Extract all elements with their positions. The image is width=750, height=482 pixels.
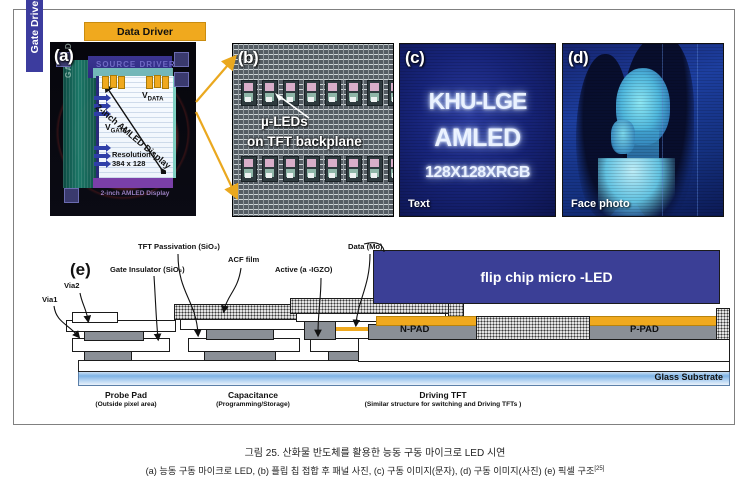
led-row-bottom <box>241 156 394 182</box>
led-cell <box>346 80 362 106</box>
caption-line-1: 그림 25. 산화물 반도체를 활용한 능동 구동 마이크로 LED 시연 <box>55 444 695 463</box>
led-cell <box>367 156 383 182</box>
legend-probe-pad: Probe Pad (Outside pixel area) <box>56 390 196 410</box>
microscope-texture <box>233 44 393 216</box>
panel-d-face-photo: Face photo <box>562 43 724 217</box>
led-cell <box>325 80 341 106</box>
panel-d-caption: Face photo <box>571 198 630 210</box>
vgate-arrow-5 <box>94 154 106 158</box>
panel-c-caption: Text <box>408 198 430 210</box>
panel-b-line1: µ-LEDs <box>261 114 308 129</box>
panel-b-micro-led-array: µ-LEDs on TFT backplane <box>232 43 394 217</box>
led-cell <box>262 156 278 182</box>
panel-a-to-b-arrows <box>194 50 254 210</box>
panel-c-text-image: KHU-LGE AMLED 128X128XRGB Text <box>399 43 556 217</box>
panel-a-amled-display: GATE DRIVER SOURCE DRIVER 2-inch AMLED D… <box>50 42 196 216</box>
led-cell <box>325 156 341 182</box>
panel-a-tag: (a) <box>54 46 73 66</box>
board-corner-tr2 <box>174 72 189 87</box>
legend-driving-tft: Driving TFT (Similar structure for switc… <box>308 390 578 410</box>
v-data-label: VDATA <box>142 90 163 103</box>
callout-leader-lines <box>28 238 748 378</box>
vgate-arrow-1 <box>94 96 106 100</box>
board-corner-bl <box>64 188 79 203</box>
vdata-arrow-3 <box>118 76 125 89</box>
led-cell <box>283 156 299 182</box>
led-cell <box>388 80 394 106</box>
panel-e-pixel-cross-section: (e) TFT Passivation (SiO₂) Gate Insulato… <box>28 238 748 434</box>
panel-c-line3: 128X128XRGB <box>400 164 555 182</box>
data-driver-badge: Data Driver <box>84 22 206 41</box>
panel-c-line2: AMLED <box>400 124 555 153</box>
vdata-arrow-1 <box>102 76 109 89</box>
vgate-arrow-6 <box>94 162 106 166</box>
caption-line-2: (a) 능동 구동 마이크로 LED, (b) 플립 칩 접합 후 패널 사진,… <box>55 463 695 480</box>
gate-driver-badge: Gate Driver <box>26 0 43 72</box>
led-cell <box>346 156 362 182</box>
board-corner-tr <box>174 52 189 67</box>
led-cell <box>304 156 320 182</box>
vdata-arrow-6 <box>162 76 169 89</box>
resolution-label: Resolution : 384 x 128 <box>112 150 155 169</box>
figure-caption: 그림 25. 산화물 반도체를 활용한 능동 구동 마이크로 LED 시연 (a… <box>55 444 695 480</box>
legend-capacitance: Capacitance (Programming/Storage) <box>178 390 328 410</box>
panel-c-tag: (c) <box>405 48 424 68</box>
vdata-arrow-2 <box>110 75 117 88</box>
vgate-arrow-4 <box>94 146 106 150</box>
figure-frame: GATE DRIVER SOURCE DRIVER 2-inch AMLED D… <box>13 9 735 425</box>
vdata-arrow-5 <box>154 75 161 88</box>
panel-c-line1: KHU-LGE <box>400 88 555 115</box>
panel-d-tag: (d) <box>568 48 588 68</box>
display-bottom-bezel <box>93 178 173 188</box>
v-gate-label: VGATE <box>105 122 127 135</box>
panel-b-line2: on TFT backplane <box>247 134 362 149</box>
figure-page: GATE DRIVER SOURCE DRIVER 2-inch AMLED D… <box>0 0 750 482</box>
led-cell <box>388 156 394 182</box>
panel-b-tag: (b) <box>238 48 258 68</box>
led-cell <box>367 80 383 106</box>
led-row-top <box>241 80 394 106</box>
vdata-arrow-4 <box>146 76 153 89</box>
panel-d-scanlines <box>563 44 723 216</box>
panel-a-board-caption: 2-inch AMLED Display <box>90 190 180 197</box>
